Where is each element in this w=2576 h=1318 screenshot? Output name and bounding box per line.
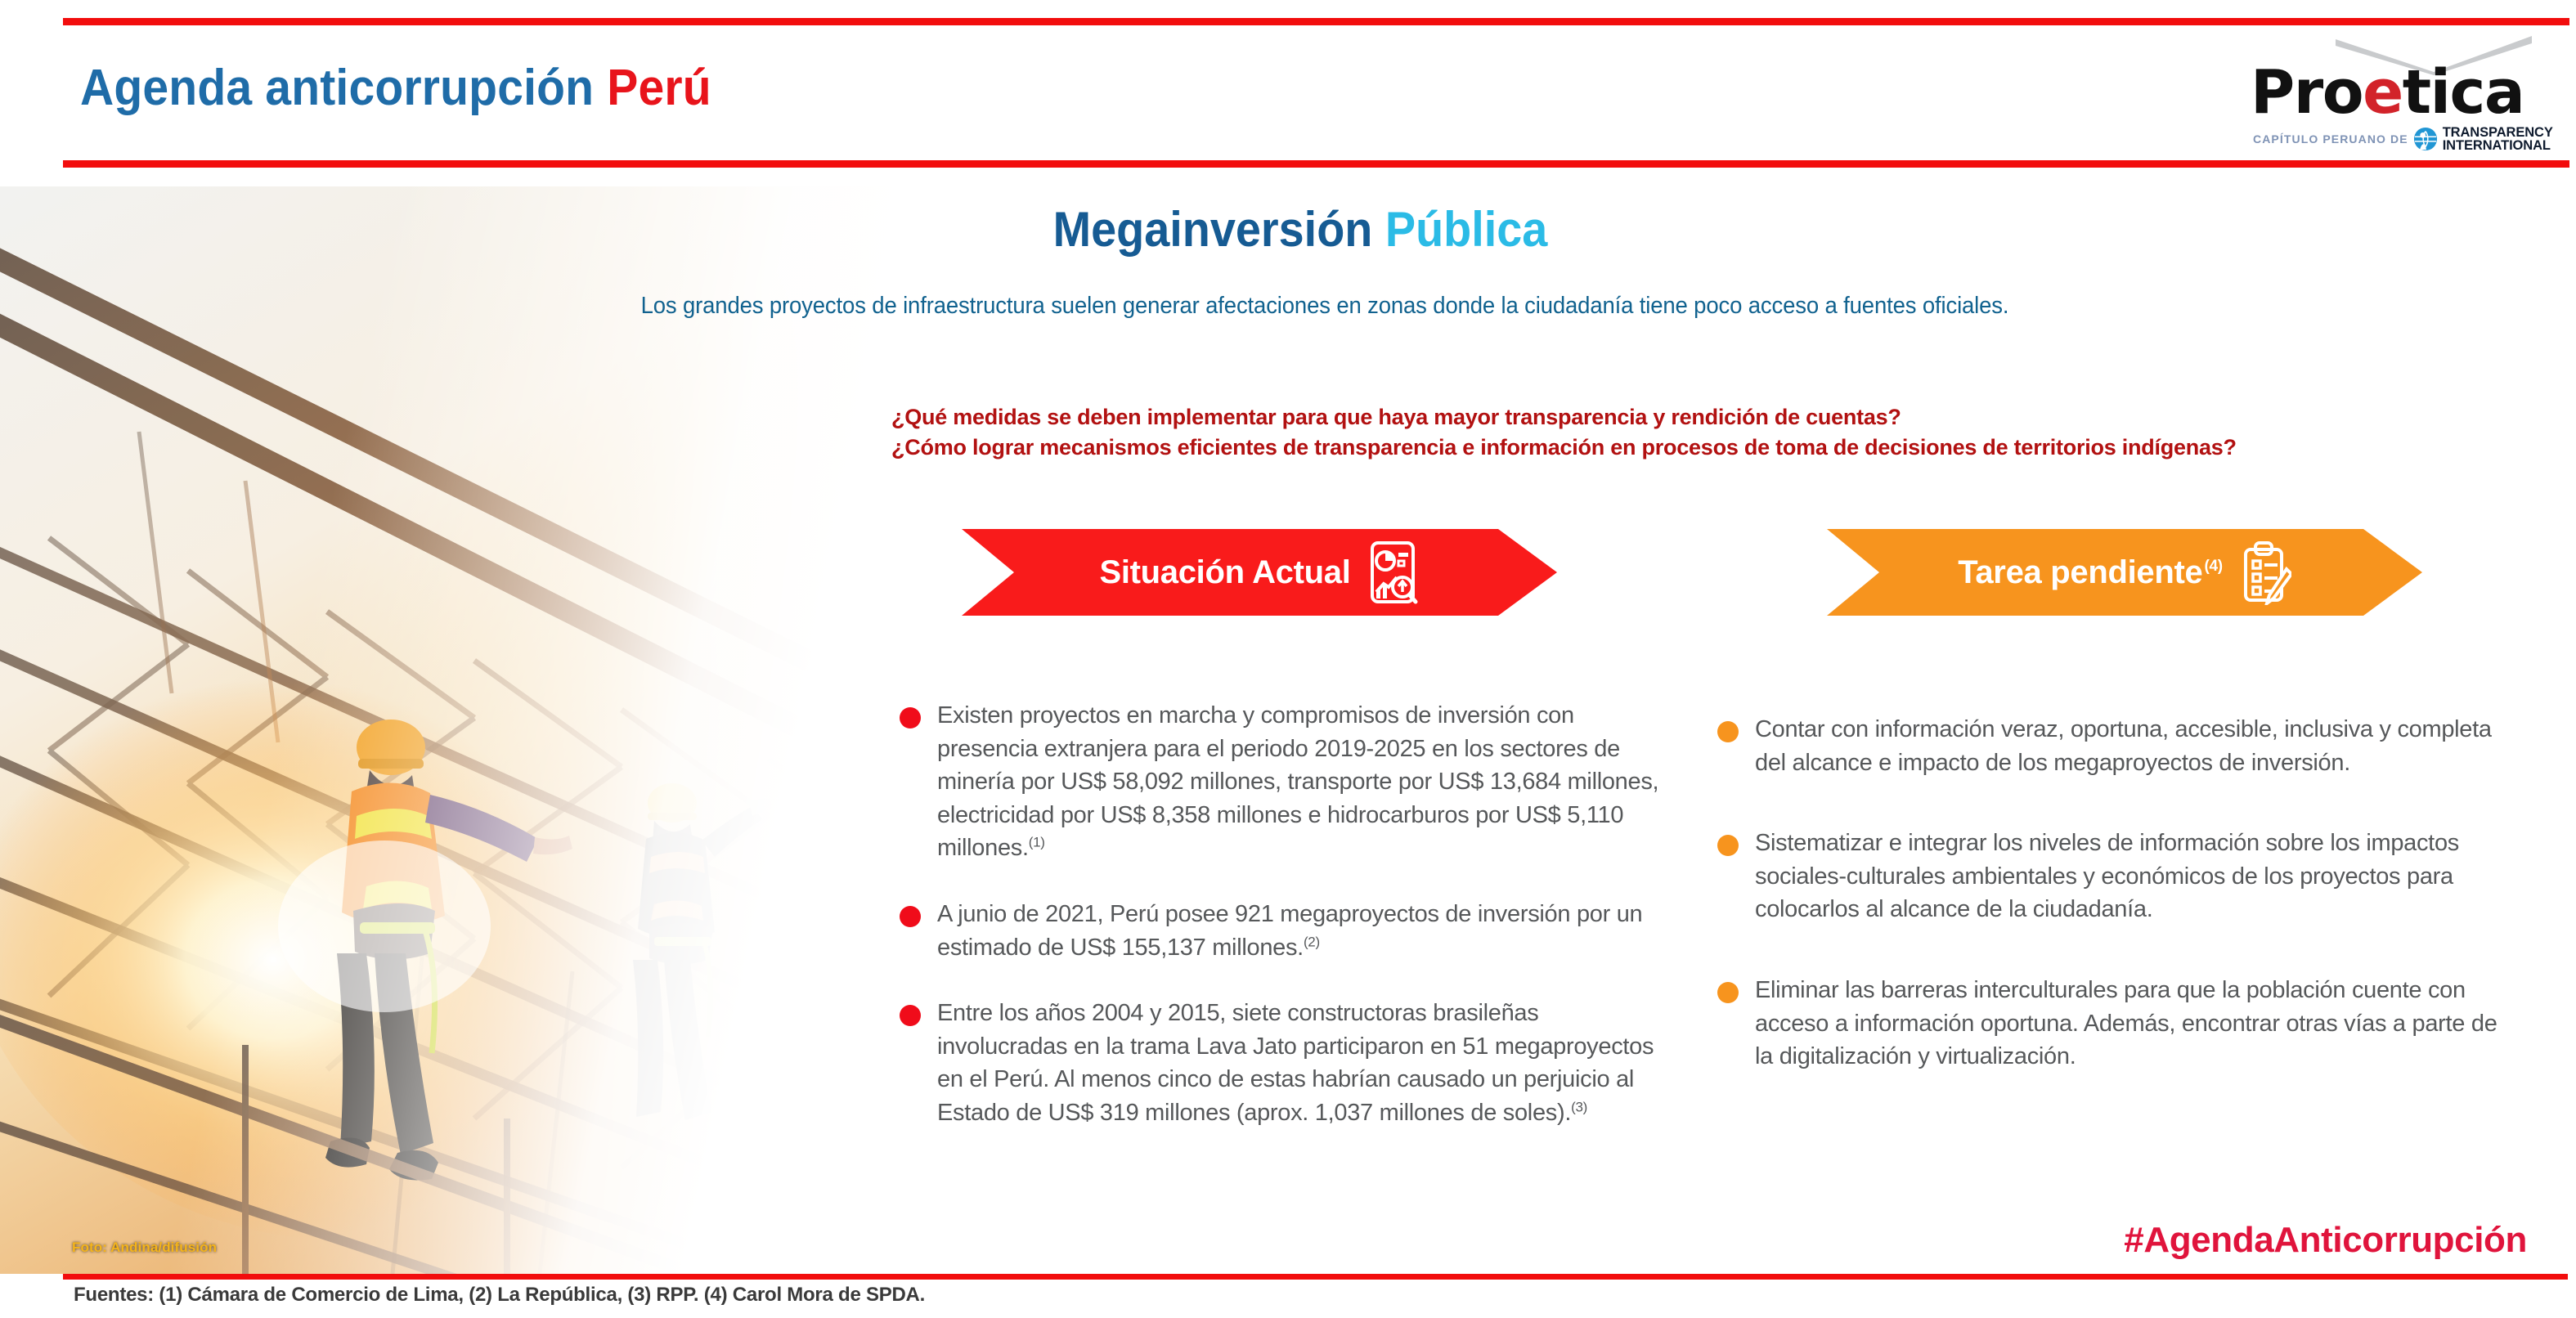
banner-tarea-footnote: (4)	[2204, 558, 2222, 575]
bullet-footnote: (3)	[1571, 1099, 1587, 1114]
logo-wordmark-accent: e	[2363, 57, 2403, 128]
section-subtitle: Los grandes proyectos de infraestructura…	[315, 293, 2335, 320]
banner-tarea-pendiente: Tarea pendiente(4)	[1827, 529, 2422, 616]
globe-icon	[2413, 127, 2438, 151]
logo-subline: CAPÍTULO PERUANO DE TRANSPARENCY INTERNA…	[2253, 126, 2553, 152]
bullet-text: Contar con información veraz, oportuna, …	[1755, 713, 2502, 779]
bullet-item: Eliminar las barreras interculturales pa…	[1717, 974, 2502, 1074]
logo-org-line2: INTERNATIONAL	[2443, 138, 2551, 153]
banner-tarea-label: Tarea pendiente(4)	[1958, 554, 2223, 591]
clipboard-pencil-checklist-icon	[2237, 540, 2291, 605]
bullet-body: Existen proyectos en marcha y compromiso…	[937, 702, 1658, 861]
bullet-text: Existen proyectos en marcha y compromiso…	[937, 699, 1668, 865]
bullet-text: Eliminar las barreras interculturales pa…	[1755, 974, 2502, 1074]
logo-org-text: TRANSPARENCY INTERNATIONAL	[2443, 126, 2553, 152]
bullet-item: A junio de 2021, Perú posee 921 megaproy…	[900, 898, 1668, 964]
question-block: ¿Qué medidas se deben implementar para q…	[891, 402, 2519, 463]
logo-wordmark: Proetica	[2251, 57, 2524, 128]
section-title-dark: Megainversión	[1053, 202, 1373, 257]
header-rule-top	[63, 18, 2569, 25]
page-title: Agenda anticorrupción Perú	[80, 59, 711, 117]
bullet-body: A junio de 2021, Perú posee 921 megaproy…	[937, 901, 1642, 961]
slide-canvas: Agenda anticorrupción Perú Proetica CAPÍ…	[0, 0, 2576, 1318]
footer-rule	[63, 1274, 2568, 1280]
bullet-dot-icon	[1717, 982, 1739, 1003]
bullet-dot-icon	[900, 906, 921, 927]
question-line-2: ¿Cómo lograr mecanismos eficientes de tr…	[891, 433, 2519, 463]
logo-wordmark-pre: Pro	[2251, 57, 2363, 128]
bullet-item: Existen proyectos en marcha y compromiso…	[900, 699, 1668, 865]
bullet-body: Entre los años 2004 y 2015, siete constr…	[937, 1000, 1654, 1126]
banner-situacion-label: Situación Actual	[1099, 554, 1350, 591]
section-title: Megainversión Pública	[897, 201, 1703, 258]
bullet-item: Sistematizar e integrar los niveles de i…	[1717, 827, 2502, 926]
bullet-footnote: (1)	[1029, 835, 1045, 850]
question-line-1: ¿Qué medidas se deben implementar para q…	[891, 402, 2519, 433]
banner-tarea-text: Tarea pendiente	[1958, 554, 2202, 590]
bullet-dot-icon	[900, 707, 921, 728]
bullet-dot-icon	[900, 1005, 921, 1026]
bullet-dot-icon	[1717, 721, 1739, 742]
column-situacion-actual: Existen proyectos en marcha y compromiso…	[900, 699, 1668, 1130]
column-tarea-pendiente: Contar con información veraz, oportuna, …	[1717, 713, 2502, 1074]
page-title-main: Agenda anticorrupción	[80, 60, 594, 116]
construction-photo	[0, 186, 973, 1274]
bullet-text: A junio de 2021, Perú posee 921 megaproy…	[937, 898, 1668, 964]
sources-note: Fuentes: (1) Cámara de Comercio de Lima,…	[74, 1284, 925, 1307]
chart-magnifier-report-icon	[1366, 540, 1420, 605]
page-title-country: Perú	[607, 60, 711, 116]
bullet-item: Entre los años 2004 y 2015, siete constr…	[900, 997, 1668, 1129]
bullet-footnote: (2)	[1304, 934, 1320, 949]
logo-chapter-text: CAPÍTULO PERUANO DE	[2253, 132, 2408, 146]
section-title-cyan: Pública	[1385, 202, 1547, 257]
photo-fade-overlay	[0, 186, 973, 1274]
bullet-item: Contar con información veraz, oportuna, …	[1717, 713, 2502, 779]
logo-wordmark-post: tica	[2403, 57, 2524, 128]
proetica-logo: Proetica CAPÍTULO PERUANO DE TRANSPARENC…	[2251, 36, 2537, 150]
banner-situacion-actual: Situación Actual	[962, 529, 1557, 616]
bullet-text: Entre los años 2004 y 2015, siete constr…	[937, 997, 1668, 1129]
campaign-hashtag: #AgendaAnticorrupción	[1644, 1220, 2527, 1261]
photo-credit: Foto: Andina/difusión	[72, 1240, 217, 1256]
bullet-dot-icon	[1717, 835, 1739, 856]
header-rule-bottom	[63, 160, 2569, 168]
bullet-text: Sistematizar e integrar los niveles de i…	[1755, 827, 2502, 926]
